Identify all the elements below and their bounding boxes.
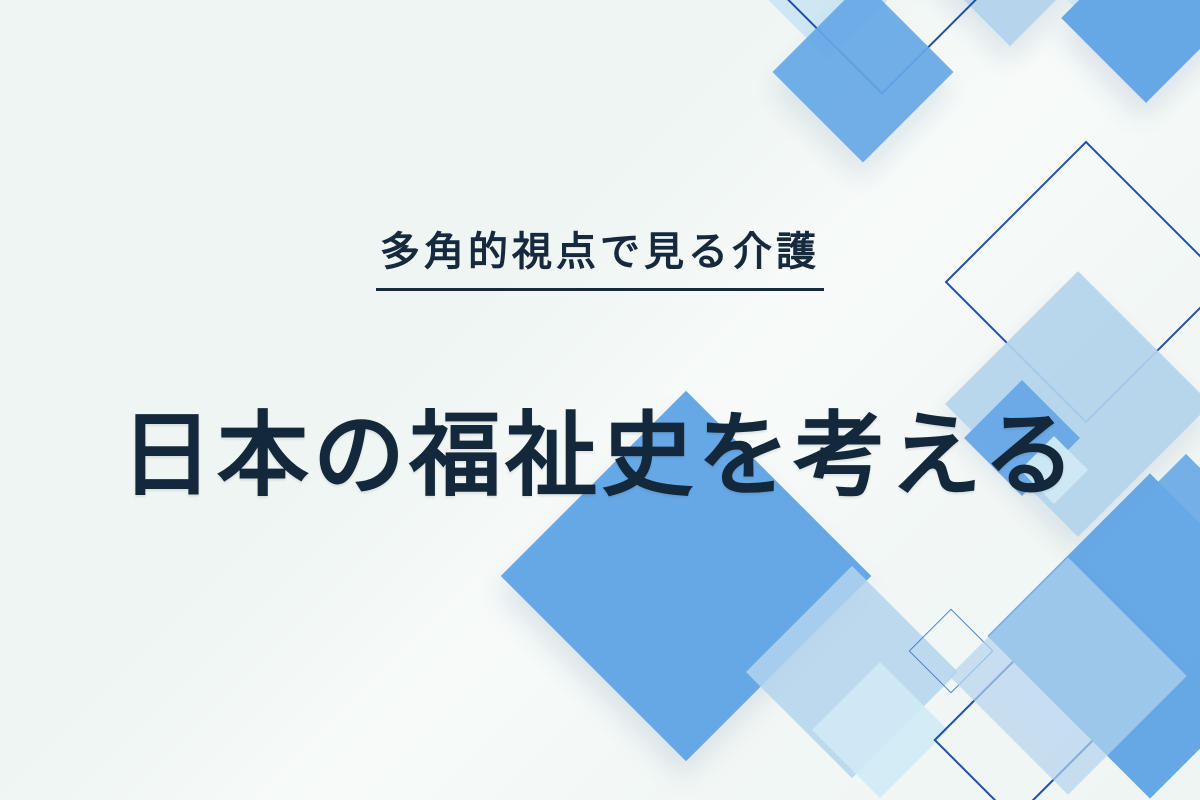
title-banner: 多角的視点で見る介護 日本の福祉史を考える	[0, 0, 1200, 800]
title-text-block: 多角的視点で見る介護 日本の福祉史を考える	[0, 0, 1200, 800]
subtitle-underline-wrapper: 多角的視点で見る介護	[376, 230, 824, 291]
subtitle: 多角的視点で見る介護	[380, 230, 820, 274]
page-title: 日本の福祉史を考える	[121, 405, 1080, 508]
